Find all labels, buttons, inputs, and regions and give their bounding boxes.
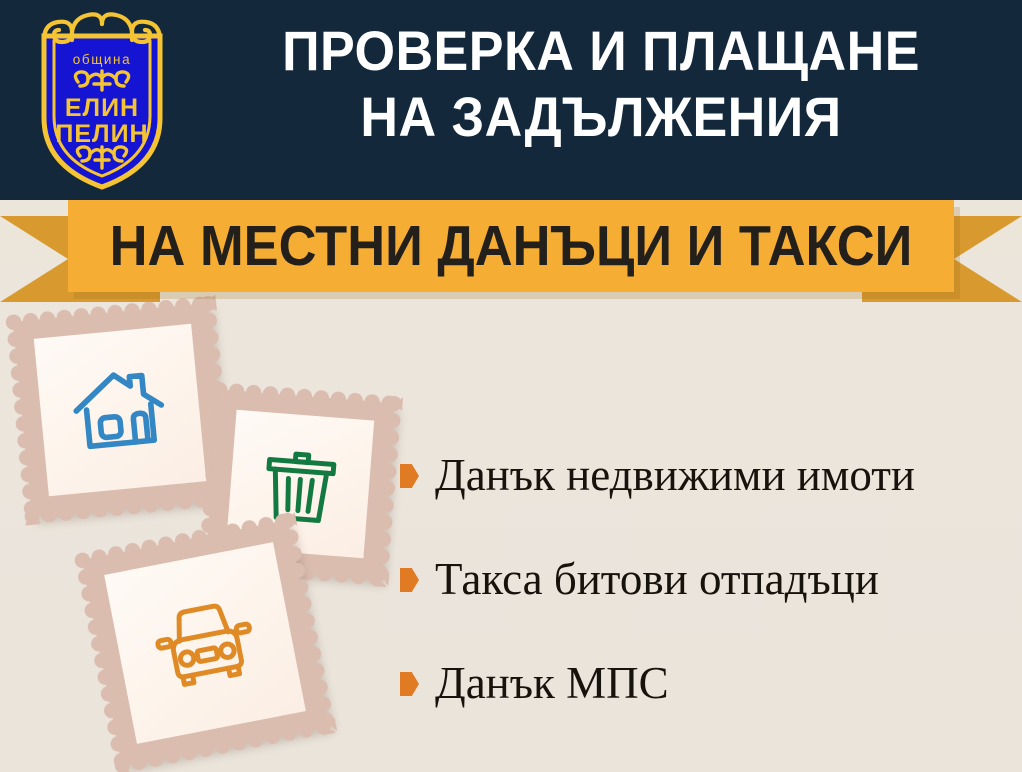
crest-name-line2: ПЕЛИН (55, 120, 148, 148)
stamp-edge-right (371, 394, 403, 587)
page-title: ПРОВЕРКА И ПЛАЩАНЕ НА ЗАДЪЛЖЕНИЯ (215, 18, 987, 150)
poster-canvas: община ЕЛИН ПЕЛИН ПРОВЕРКА И П (0, 0, 1022, 772)
stamp-collage (0, 290, 420, 772)
municipality-crest-logo: община ЕЛИН ПЕЛИН (18, 6, 186, 192)
list-item[interactable]: Данък недвижими имоти (400, 424, 1012, 528)
tax-item-label: Такса битови отпадъци (435, 556, 879, 603)
stamp-real-estate (13, 303, 227, 517)
subtitle-ribbon: НА МЕСТНИ ДАНЪЦИ И ТАКСИ (0, 200, 1022, 308)
stamp-vehicle-tax (82, 520, 328, 766)
tax-item-label: Данък недвижими имоти (435, 452, 915, 499)
list-item[interactable]: Данък МПС (400, 632, 1012, 736)
tax-item-label: Данък МПС (435, 660, 669, 707)
list-item[interactable]: Такса битови отпадъци (400, 528, 1012, 632)
stamp-inner-panel (104, 542, 306, 744)
car-front-icon (142, 580, 269, 707)
ribbon-label: НА МЕСТНИ ДАНЪЦИ И ТАКСИ (103, 200, 918, 292)
arrow-bullet-icon (400, 672, 419, 696)
arrow-bullet-icon (400, 464, 419, 488)
arrow-bullet-icon (400, 568, 419, 592)
crest-top-label: община (73, 52, 131, 67)
page-title-line-2: НА ЗАДЪЛЖЕНИЯ (215, 84, 987, 150)
stamp-inner-panel (34, 324, 206, 496)
page-title-line-1: ПРОВЕРКА И ПЛАЩАНЕ (215, 18, 987, 84)
tax-types-list: Данък недвижими имоти Такса битови отпад… (400, 424, 1012, 736)
house-icon (63, 353, 176, 466)
ribbon-band: НА МЕСТНИ ДАНЪЦИ И ТАКСИ (68, 200, 954, 292)
crest-name-line1: ЕЛИН (65, 94, 139, 122)
